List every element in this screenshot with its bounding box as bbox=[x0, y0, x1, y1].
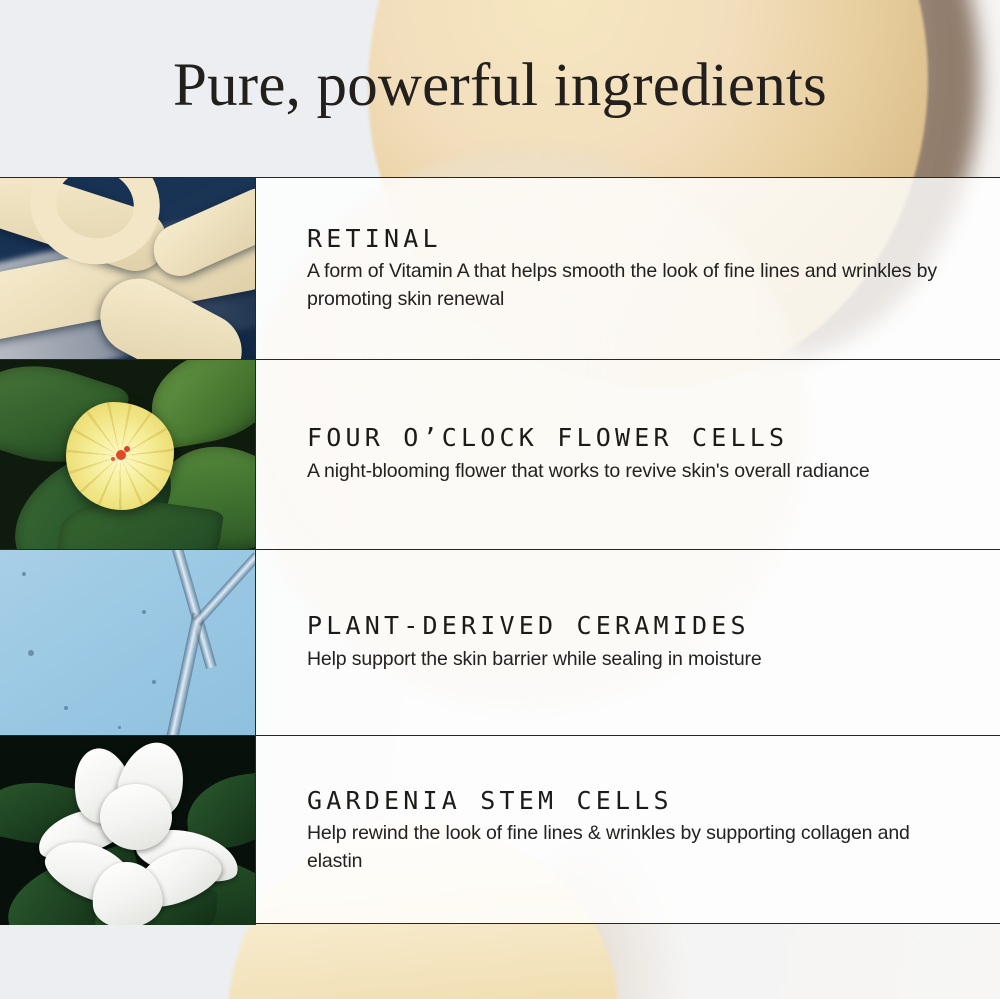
cell-speck bbox=[28, 650, 34, 656]
cell-membrane-edge bbox=[159, 613, 204, 735]
ingredient-name: PLANT-DERIVED CERAMIDES bbox=[307, 611, 976, 641]
ingredients-panel: RETINAL A form of Vitamin A that helps s… bbox=[0, 177, 1000, 924]
ingredient-name: FOUR O’CLOCK FLOWER CELLS bbox=[307, 423, 976, 453]
ingredient-thumbnail-four-oclock-flower-cells bbox=[0, 360, 256, 549]
title-band: Pure, powerful ingredients bbox=[0, 0, 1000, 177]
ingredient-thumbnail-plant-derived-ceramides bbox=[0, 550, 256, 735]
cell-speck bbox=[22, 572, 26, 576]
ingredient-name: GARDENIA STEM CELLS bbox=[307, 786, 976, 816]
ingredient-thumbnail-gardenia-stem-cells bbox=[0, 736, 256, 925]
blue-cell-microscopy-image bbox=[0, 550, 255, 735]
flower-petals bbox=[66, 402, 174, 510]
ingredient-text-plant-derived-ceramides: PLANT-DERIVED CERAMIDES Help support the… bbox=[256, 550, 1000, 735]
cell-speck bbox=[64, 706, 68, 710]
ingredient-description: Help rewind the look of fine lines & wri… bbox=[307, 820, 947, 875]
ingredient-thumbnail-retinal bbox=[0, 178, 256, 359]
cell-membrane-edge bbox=[193, 552, 256, 626]
white-gardenia-flower-image bbox=[0, 736, 255, 925]
ingredient-row-retinal: RETINAL A form of Vitamin A that helps s… bbox=[0, 178, 1000, 359]
flower-stamen bbox=[116, 450, 126, 460]
yellow-four-oclock-flower-image bbox=[0, 360, 255, 549]
ingredient-text-gardenia-stem-cells: GARDENIA STEM CELLS Help rewind the look… bbox=[256, 736, 1000, 925]
page-title: Pure, powerful ingredients bbox=[173, 55, 827, 122]
ingredient-name: RETINAL bbox=[307, 224, 976, 254]
ingredient-row-gardenia-stem-cells: GARDENIA STEM CELLS Help rewind the look… bbox=[0, 735, 1000, 925]
ingredient-row-four-oclock-flower-cells: FOUR O’CLOCK FLOWER CELLS A night-bloomi… bbox=[0, 359, 1000, 549]
cream-swirl-on-navy-image bbox=[0, 178, 255, 359]
ingredient-description: A night-blooming flower that works to re… bbox=[307, 458, 947, 486]
cell-speck bbox=[142, 610, 146, 614]
cell-speck bbox=[118, 726, 121, 729]
ingredient-text-retinal: RETINAL A form of Vitamin A that helps s… bbox=[256, 178, 1000, 359]
ingredient-description: A form of Vitamin A that helps smooth th… bbox=[307, 258, 947, 313]
cell-speck bbox=[152, 680, 156, 684]
ingredient-description: Help support the skin barrier while seal… bbox=[307, 646, 947, 674]
ingredient-text-four-oclock-flower-cells: FOUR O’CLOCK FLOWER CELLS A night-bloomi… bbox=[256, 360, 1000, 549]
ingredient-row-plant-derived-ceramides: PLANT-DERIVED CERAMIDES Help support the… bbox=[0, 549, 1000, 735]
